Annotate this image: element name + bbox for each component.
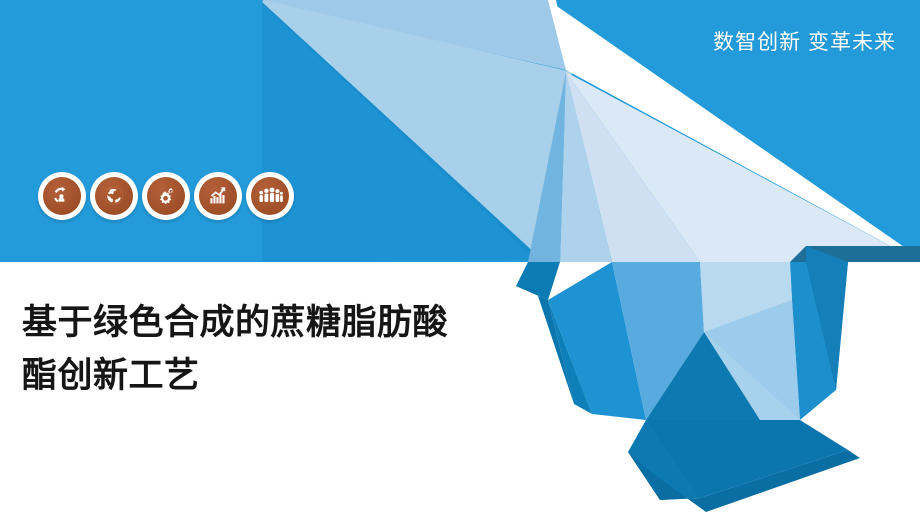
icon-badge-recycle-growth[interactable] [38, 172, 86, 220]
globe-icon [95, 177, 133, 215]
gears-icon [147, 177, 185, 215]
bar-chart-icon [199, 177, 237, 215]
icon-badge-globe[interactable] [90, 172, 138, 220]
title-line-1: 基于绿色合成的蔗糖脂肪酸 [22, 296, 562, 349]
title-line-2: 酯创新工艺 [22, 349, 562, 402]
feature-icon-row [38, 172, 294, 220]
icon-badge-team-people[interactable] [246, 172, 294, 220]
slide-title: 基于绿色合成的蔗糖脂肪酸 酯创新工艺 [22, 296, 562, 402]
recycle-growth-icon [43, 177, 81, 215]
icon-badge-gears[interactable] [142, 172, 190, 220]
icon-badge-bar-chart[interactable] [194, 172, 242, 220]
slide-tagline: 数智创新 变革未来 [713, 26, 896, 56]
title-slide: 数智创新 变革未来 [0, 0, 920, 518]
team-people-icon [251, 177, 289, 215]
geometric-polygon-artwork [0, 0, 920, 518]
